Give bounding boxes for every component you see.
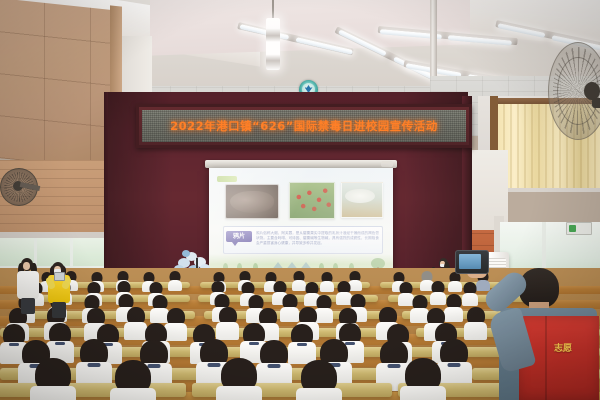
slide-image-poppy-field [289, 182, 335, 219]
student-uniform [30, 386, 76, 400]
volunteer-photographer: 志愿 [497, 244, 600, 400]
staff-legs [21, 298, 35, 314]
volunteer-vest-text: 志愿 [553, 344, 573, 355]
student-uniform [448, 281, 462, 292]
student-uniform [476, 280, 490, 291]
student-uniform [296, 388, 342, 400]
student [216, 358, 262, 400]
wall-fan-left-icon [0, 168, 40, 208]
slide-textbox: 鸦片 鸦片俗称大烟、阿芙蓉，是从罂粟果实中提取的乳状汁液经干燥而成的褐色膏状物。… [223, 226, 383, 254]
presentation-slide: 鸦片 鸦片俗称大烟、阿芙蓉，是从罂粟果实中提取的乳状汁液经干燥而成的褐色膏状物。… [209, 168, 393, 280]
fan-mount [592, 98, 600, 108]
student-collar [55, 342, 65, 345]
slide-image-opium [225, 184, 279, 219]
staff-legs [52, 302, 66, 318]
projection-screen: 鸦片 鸦片俗称大烟、阿芙蓉，是从罂粟果实中提取的乳状汁液经干燥而成的褐色膏状物。… [209, 168, 393, 280]
student [76, 339, 112, 382]
student [320, 272, 334, 288]
exit-sign [566, 222, 592, 235]
student [400, 358, 446, 400]
student-uniform [216, 386, 262, 400]
student-uniform [168, 280, 182, 291]
student [296, 360, 342, 400]
pendant-lamp [266, 0, 280, 72]
student-uniform [110, 388, 156, 400]
student [30, 358, 76, 400]
student [168, 271, 182, 288]
led-banner-text: 2022年港口镇“626”国际禁毒日进校园宣传活动 [139, 118, 469, 134]
student-collar [388, 364, 401, 368]
slide-body-text: 鸦片俗称大烟、阿芙蓉，是从罂粟果实中提取的乳状汁液经干燥而成的褐色膏状物。主要含… [256, 231, 379, 250]
student-uniform [320, 281, 334, 292]
student-uniform [216, 322, 239, 340]
pendant-lamp-tube [266, 18, 280, 70]
led-banner: 2022年港口镇“626”国际禁毒日进校园宣传活动 [136, 104, 472, 148]
wall-fan-right-icon [548, 42, 600, 150]
student-collar [297, 343, 307, 346]
vest-seam [545, 316, 547, 400]
student-uniform [464, 322, 487, 340]
camera [455, 250, 489, 274]
student [464, 307, 487, 337]
projector-screen-case [205, 160, 397, 168]
camera-lcd-screen [459, 254, 481, 269]
student [110, 360, 156, 400]
slide-tag-label: 鸦片 [226, 231, 252, 242]
smartphone [54, 272, 65, 281]
staff-white-shirt [16, 258, 40, 314]
student-uniform [400, 386, 446, 400]
staff-shirt [17, 271, 39, 299]
student [216, 307, 239, 337]
student-collar [448, 363, 461, 367]
screen-roller-knob [381, 161, 393, 167]
staff-face [23, 262, 30, 270]
flower [182, 250, 190, 257]
student-uniform [462, 293, 478, 306]
student [288, 324, 316, 358]
student [462, 282, 478, 302]
exit-sign-icon [569, 225, 576, 232]
student-collar [268, 364, 281, 368]
bench [0, 383, 186, 397]
staff-yellow-vest-photographer [46, 262, 72, 318]
student-collar [88, 363, 101, 367]
left-tile-panel [0, 0, 120, 171]
slide-image-poppy-capsule [341, 182, 383, 218]
auditorium-photo: 2022年港口镇“626”国际禁毒日进校园宣传活动 鸦片 鸦片俗称大烟、阿芙蓉，… [0, 0, 600, 400]
student [448, 272, 462, 288]
slide-header-tab [217, 176, 237, 182]
